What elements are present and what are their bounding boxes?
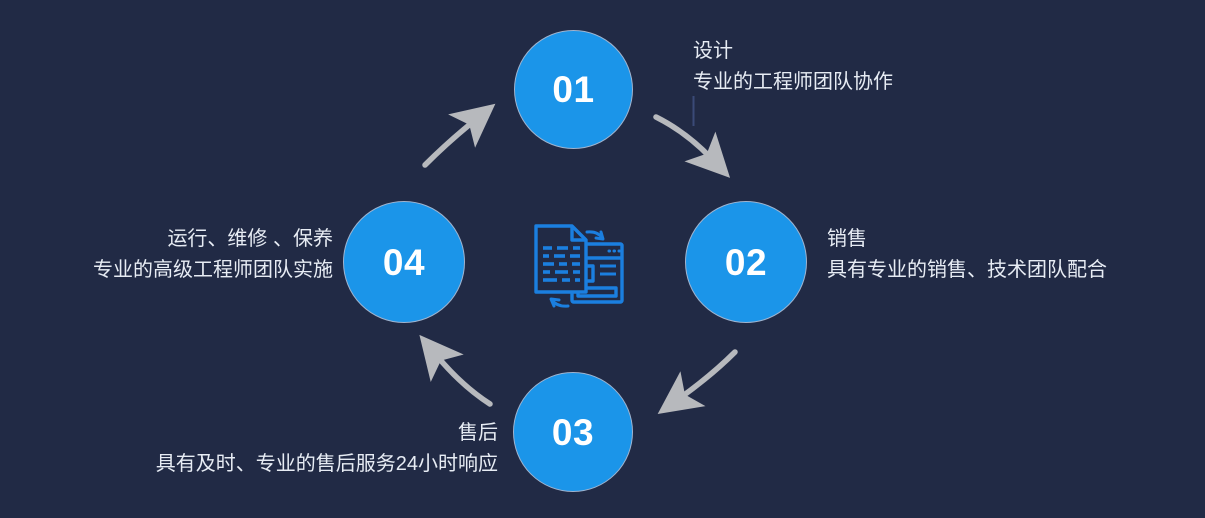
step-title-03: 售后: [156, 418, 498, 449]
step-label-02: 销售 具有专业的销售、技术团队配合: [827, 224, 1107, 286]
step-description-03: 具有及时、专业的售后服务24小时响应: [156, 449, 498, 480]
process-cycle-diagram: 01 02 03 04 设计 专业的工程师团队协作 销售 具有专业的销售、技术团…: [0, 0, 1205, 518]
document-to-webpage-icon: [524, 218, 634, 318]
step-title-04: 运行、维修 、保养: [93, 224, 333, 255]
step-label-01: 设计 专业的工程师团队协作: [693, 36, 893, 98]
step-label-03: 售后 具有及时、专业的售后服务24小时响应: [156, 418, 498, 480]
step-number-03: 03: [552, 414, 594, 451]
step-circle-01[interactable]: 01: [514, 30, 633, 149]
step-circle-04[interactable]: 04: [343, 201, 465, 323]
step-title-01: 设计: [693, 36, 893, 67]
step-description-02: 具有专业的销售、技术团队配合: [827, 255, 1107, 286]
step-circle-02[interactable]: 02: [685, 201, 807, 323]
step-description-04: 专业的高级工程师团队实施: [93, 255, 333, 286]
arrow-03-to-04: [437, 356, 490, 404]
step-title-02: 销售: [827, 224, 1107, 255]
arrow-04-to-01: [425, 121, 474, 165]
step-number-02: 02: [725, 244, 767, 281]
arrow-01-to-02: [656, 117, 711, 158]
step-description-01: 专业的工程师团队协作: [693, 67, 893, 98]
step-number-01: 01: [552, 71, 594, 108]
step-number-04: 04: [383, 244, 425, 281]
step-label-04: 运行、维修 、保养 专业的高级工程师团队实施: [93, 224, 333, 286]
step-circle-03[interactable]: 03: [513, 372, 633, 492]
arrow-02-to-03: [680, 352, 735, 398]
